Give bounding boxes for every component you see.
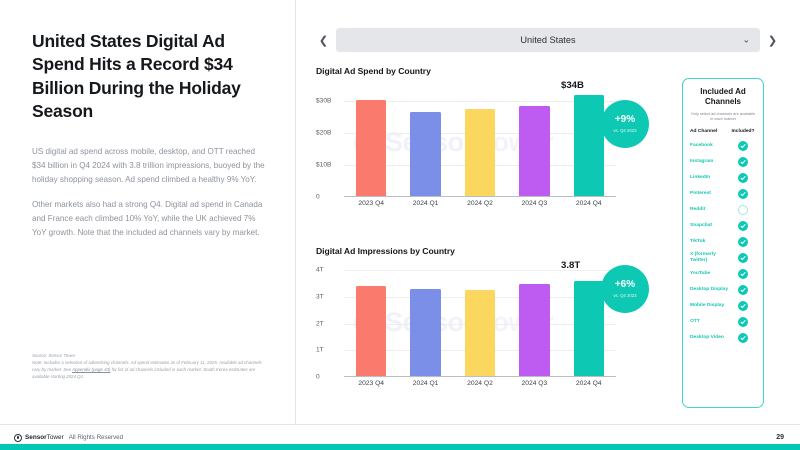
- footnote: Source: Sensor Tower Note: Includes a se…: [32, 352, 264, 381]
- x-axis-tick-label: 2024 Q1: [401, 380, 450, 387]
- channel-name: TikTok: [690, 239, 730, 245]
- badge-ad-impressions-growth: +6% vs. Q4 2023: [601, 265, 649, 313]
- table-row: Snapchat: [690, 220, 756, 231]
- check-circle-icon: [738, 301, 748, 311]
- channel-included-cell: [730, 141, 756, 151]
- bar[interactable]: [465, 290, 495, 375]
- table-row: Reddit: [690, 204, 756, 215]
- channel-name: Reddit: [690, 207, 730, 213]
- table-row: YouTube: [690, 269, 756, 280]
- channel-included-cell: [730, 157, 756, 167]
- channel-name: OTT: [690, 319, 730, 325]
- bar-column: [456, 290, 505, 375]
- x-axis-line: [344, 376, 616, 377]
- page-number: 29: [776, 434, 784, 441]
- check-circle-icon: [738, 157, 748, 167]
- channel-name: YouTube: [690, 271, 730, 277]
- bar[interactable]: [465, 109, 495, 195]
- page-title: United States Digital Ad Spend Hits a Re…: [32, 30, 267, 123]
- table-row: X (formerly Twitter): [690, 252, 756, 264]
- x-axis-labels: 2023 Q42024 Q12024 Q22024 Q32024 Q4: [344, 200, 616, 207]
- bar[interactable]: [574, 95, 604, 196]
- footnote-note-d: available starting 2024 Q1.: [32, 374, 84, 379]
- check-circle-icon: [738, 237, 748, 247]
- bar-column: [401, 289, 450, 376]
- check-circle-icon: [738, 317, 748, 327]
- channel-included-cell: [730, 205, 756, 215]
- appendix-link[interactable]: Appendix (page 43): [72, 367, 110, 372]
- bar-column: [401, 112, 450, 195]
- plot-ad-spend: SensorTower 0$10B$20B$30B2023 Q42024 Q12…: [316, 85, 616, 197]
- brand-logo: SensorTower: [14, 434, 64, 442]
- channel-name: Instagram: [690, 159, 730, 165]
- badge-sublabel: vs. Q4 2023: [613, 293, 636, 298]
- y-axis-tick-label: $30B: [316, 98, 342, 105]
- bar-column: [456, 109, 505, 195]
- table-row: Desktop Video: [690, 333, 756, 344]
- y-axis-tick-label: $10B: [316, 162, 342, 169]
- bar[interactable]: [410, 112, 440, 195]
- y-axis-tick-label: 3T: [316, 294, 342, 301]
- channel-included-cell: [730, 269, 756, 279]
- y-axis-tick-label: 0: [316, 374, 342, 381]
- check-circle-icon: [738, 221, 748, 231]
- table-row: LinkedIn: [690, 172, 756, 183]
- bar[interactable]: [356, 100, 386, 196]
- table-row: Desktop Display: [690, 285, 756, 296]
- country-dropdown[interactable]: United States ⌄: [336, 28, 760, 52]
- table-row: Mobile Display: [690, 301, 756, 312]
- bar[interactable]: [356, 286, 386, 375]
- chart-title-ad-impressions: Digital Ad Impressions by Country: [316, 246, 616, 256]
- channels-table-body: FacebookInstagramLinkedInPinterestReddit…: [690, 140, 756, 344]
- check-circle-icon: [738, 285, 748, 295]
- badge-value: +9%: [615, 115, 635, 125]
- x-axis-tick-label: 2023 Q4: [347, 200, 396, 207]
- bar-column: [347, 286, 396, 375]
- country-selector: ❮ United States ⌄ ❯: [316, 27, 780, 53]
- left-panel: United States Digital Ad Spend Hits a Re…: [0, 0, 296, 424]
- y-axis-tick-label: 1T: [316, 347, 342, 354]
- body-paragraph-1: US digital ad spend across mobile, deskt…: [32, 145, 267, 187]
- bar[interactable]: [519, 106, 549, 196]
- channel-included-cell: [730, 189, 756, 199]
- body-copy: US digital ad spend across mobile, deskt…: [32, 145, 267, 239]
- channels-table-header: Ad Channel Included?: [690, 129, 756, 135]
- channel-included-cell: [730, 173, 756, 183]
- channel-included-cell: [730, 285, 756, 295]
- footnote-note-c: for list of ad channels included in each…: [112, 367, 256, 372]
- y-axis-tick-label: 0: [316, 194, 342, 201]
- check-circle-icon: [738, 189, 748, 199]
- channel-included-cell: [730, 317, 756, 327]
- channels-panel-title: Included Ad Channels: [690, 87, 756, 107]
- bar[interactable]: [574, 281, 604, 376]
- included-ad-channels-panel: Included Ad Channels Only select ad chan…: [682, 78, 764, 408]
- bar-column: [510, 106, 559, 196]
- channels-panel-subtitle: Only select ad channels are available in…: [690, 111, 756, 121]
- x-axis-tick-label: 2024 Q3: [510, 200, 559, 207]
- channel-name: Desktop Display: [690, 287, 730, 293]
- channel-included-cell: [730, 333, 756, 343]
- table-row: Facebook: [690, 140, 756, 151]
- x-axis-tick-label: 2024 Q3: [510, 380, 559, 387]
- chart-ad-spend: Digital Ad Spend by Country SensorTower …: [316, 66, 616, 197]
- bar[interactable]: [410, 289, 440, 376]
- channel-name: Facebook: [690, 143, 730, 149]
- channel-name: Desktop Video: [690, 335, 730, 341]
- table-row: Instagram: [690, 156, 756, 167]
- channel-included-cell: [730, 237, 756, 247]
- x-axis-tick-label: 2023 Q4: [347, 380, 396, 387]
- check-circle-icon: [738, 253, 748, 263]
- chevron-down-icon: ⌄: [742, 35, 750, 46]
- slide: United States Digital Ad Spend Hits a Re…: [0, 0, 800, 450]
- bar[interactable]: [519, 284, 549, 376]
- body-paragraph-2: Other markets also had a strong Q4. Digi…: [32, 198, 267, 240]
- empty-circle-icon: [738, 205, 748, 215]
- x-axis-tick-label: 2024 Q1: [401, 200, 450, 207]
- check-circle-icon: [738, 141, 748, 151]
- y-axis-tick-label: 2T: [316, 320, 342, 327]
- brand-name: SensorTower: [25, 434, 64, 441]
- channel-name: Mobile Display: [690, 303, 730, 309]
- check-circle-icon: [738, 333, 748, 343]
- footnote-note: Note: Includes a selection of advertisin…: [32, 359, 264, 380]
- channel-name: LinkedIn: [690, 175, 730, 181]
- bar-column: [510, 284, 559, 376]
- x-axis-labels: 2023 Q42024 Q12024 Q22024 Q32024 Q4: [344, 380, 616, 387]
- y-axis-tick-label: 4T: [316, 267, 342, 274]
- table-row: OTT: [690, 317, 756, 328]
- x-axis-line: [344, 196, 616, 197]
- peak-label-ad-spend: $34B: [561, 80, 584, 91]
- channel-included-cell: [730, 301, 756, 311]
- badge-ad-spend-growth: +9% vs. Q4 2023: [601, 100, 649, 148]
- chart-title-ad-spend: Digital Ad Spend by Country: [316, 66, 616, 76]
- chevron-left-icon[interactable]: ❮: [316, 28, 331, 52]
- country-dropdown-value: United States: [520, 35, 575, 45]
- channel-included-cell: [730, 253, 756, 263]
- bar-series: [344, 85, 616, 196]
- footnote-note-a: Note: Includes a selection of advertisin…: [32, 360, 180, 365]
- x-axis-tick-label: 2024 Q2: [456, 380, 505, 387]
- rights-text: All Rights Reserved: [69, 434, 123, 441]
- bar-series: [344, 265, 616, 376]
- x-axis-tick-label: 2024 Q4: [564, 200, 613, 207]
- column-header-included: Included?: [730, 129, 756, 134]
- chart-ad-impressions: Digital Ad Impressions by Country Sensor…: [316, 246, 616, 377]
- footnote-source: Source: Sensor Tower: [32, 352, 264, 359]
- channel-name: X (formerly Twitter): [690, 252, 730, 264]
- channel-included-cell: [730, 221, 756, 231]
- badge-sublabel: vs. Q4 2023: [613, 128, 636, 133]
- channel-name: Pinterest: [690, 191, 730, 197]
- main-area: ❮ United States ⌄ ❯ Digital Ad Spend by …: [296, 0, 800, 424]
- channel-name: Snapchat: [690, 223, 730, 229]
- accent-strip: [0, 444, 800, 450]
- x-axis-tick-label: 2024 Q2: [456, 200, 505, 207]
- plot-ad-impressions: SensorTower 01T2T3T4T2023 Q42024 Q12024 …: [316, 265, 616, 377]
- x-axis-tick-label: 2024 Q4: [564, 380, 613, 387]
- chevron-right-icon[interactable]: ❯: [765, 28, 780, 52]
- check-circle-icon: [738, 269, 748, 279]
- table-row: TikTok: [690, 236, 756, 247]
- column-header-channel: Ad Channel: [690, 129, 730, 135]
- y-axis-tick-label: $20B: [316, 130, 342, 137]
- peak-label-ad-impressions: 3.8T: [561, 260, 580, 271]
- check-circle-icon: [738, 173, 748, 183]
- badge-value: +6%: [615, 280, 635, 290]
- table-row: Pinterest: [690, 188, 756, 199]
- sensor-tower-logo-icon: [14, 434, 22, 442]
- bar-column: [347, 100, 396, 196]
